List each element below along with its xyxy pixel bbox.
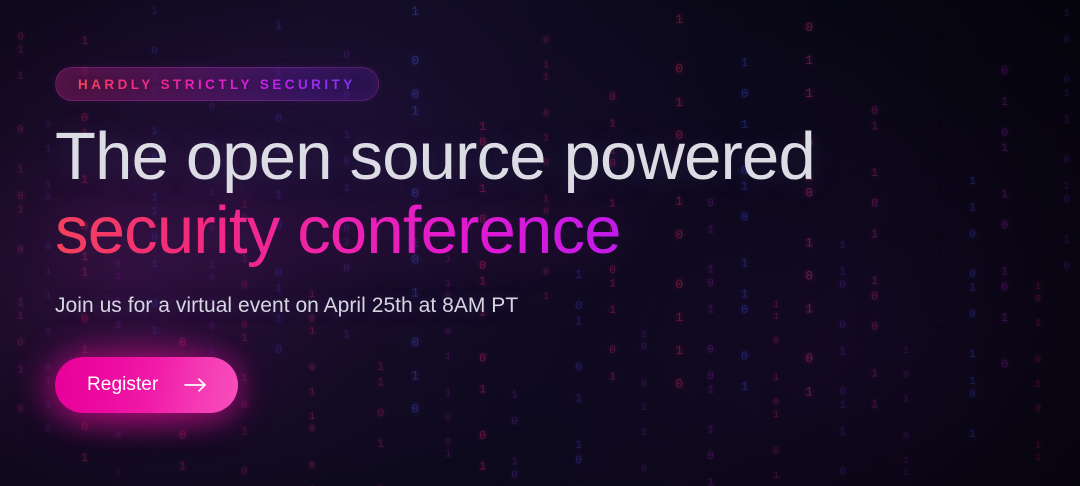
event-subtitle: Join us for a virtual event on April 25t…	[55, 294, 518, 318]
cta-container: Register	[55, 357, 238, 413]
hero-banner: 10 01 1 0 1 01 0 11 0 1 00 1 10 0 1 1 0 …	[0, 0, 1080, 486]
event-badge: HARDLY STRICTLY SECURITY	[55, 67, 379, 101]
headline-line-2: security conference	[55, 194, 935, 268]
hero-content: HARDLY STRICTLY SECURITY The open source…	[55, 0, 955, 486]
register-button-label: Register	[87, 374, 158, 396]
register-button[interactable]: Register	[55, 357, 238, 413]
arrow-right-icon	[184, 376, 208, 394]
page-title: The open source powered security confere…	[55, 120, 935, 267]
event-badge-label: HARDLY STRICTLY SECURITY	[78, 77, 356, 92]
headline-line-1: The open source powered	[55, 120, 935, 194]
